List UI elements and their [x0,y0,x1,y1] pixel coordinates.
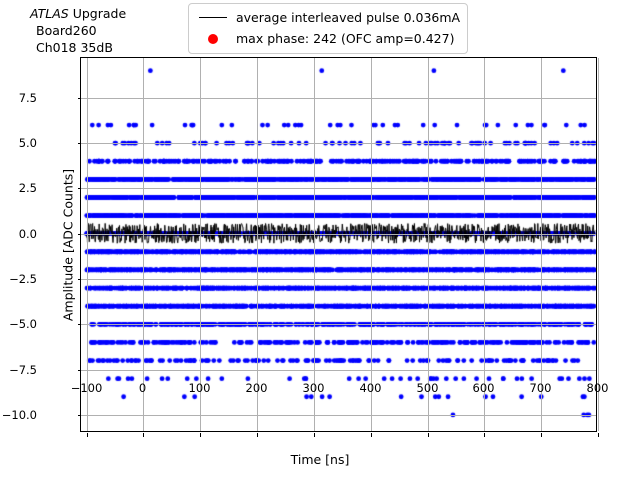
y-axis-tick-label: −7.5 [9,363,37,377]
legend-entry-max-phase: max phase: 242 (OFC amp=0.427) [196,28,460,49]
x-axis-tick-label: 200 [246,381,268,395]
y-axis-tick-label: 7.5 [19,91,37,105]
annotation-line-2: Board260 [30,22,126,39]
gridline-horizontal [81,98,596,99]
gridline-horizontal [81,188,596,189]
gridline-vertical [541,58,542,431]
x-axis-tick [428,433,429,437]
x-axis-tick [87,433,88,437]
legend-box: average interleaved pulse 0.036mA max ph… [188,3,468,54]
x-axis-tick-label: 100 [189,381,211,395]
x-axis-tick [200,433,201,437]
gridline-vertical [428,58,429,431]
gridline-vertical [143,58,144,431]
x-axis-tick-label: 400 [360,381,382,395]
x-axis-tick [484,433,485,437]
figure-canvas: Amplitude [ADC Counts] Time [ns] ATLAS U… [0,0,640,480]
y-axis-tick [78,370,82,371]
gridline-horizontal [81,370,596,371]
legend-entry-average-pulse: average interleaved pulse 0.036mA [196,7,460,28]
gridline-horizontal [81,279,596,280]
x-axis-tick [314,433,315,437]
x-axis-tick-label: 800 [587,381,609,395]
legend-label-max-phase: max phase: 242 (OFC amp=0.427) [230,31,454,46]
y-axis-tick-label: 0.0 [19,227,37,241]
y-axis-tick [78,98,82,99]
plot-area [81,58,596,431]
legend-dot-key [196,34,230,44]
x-axis-title: Time [ns] [0,452,640,467]
legend-line-key [196,17,230,19]
gridline-vertical [257,58,258,431]
y-axis-tick-label: 5.0 [19,136,37,150]
upgrade-label: Upgrade [69,6,126,21]
atlas-label: ATLAS [30,6,69,21]
y-axis-tick-label: −10.0 [2,408,37,422]
annotation-block: ATLAS Upgrade Board260 Ch018 35dB [30,5,126,56]
x-axis-tick-label: 300 [303,381,325,395]
gridline-vertical [314,58,315,431]
legend-label-average-pulse: average interleaved pulse 0.036mA [230,10,460,25]
x-axis-tick-label: 600 [473,381,495,395]
gridline-vertical [87,58,88,431]
y-axis-tick [78,324,82,325]
plot-axes [80,57,597,432]
y-axis-title: Amplitude [ADC Counts] [61,168,76,320]
gridline-vertical [484,58,485,431]
x-axis-tick [541,433,542,437]
x-axis-tick-label: 500 [417,381,439,395]
scatter-plot-canvas [81,58,596,431]
y-axis-tick [78,188,82,189]
gridline-vertical [200,58,201,431]
annotation-line-3: Ch018 35dB [30,39,126,56]
gridline-vertical [598,58,599,431]
x-axis-tick-label: −100 [71,381,103,395]
x-axis-tick [257,433,258,437]
x-axis-tick-label: 0 [139,381,146,395]
annotation-line-1: ATLAS Upgrade [30,5,126,22]
y-axis-tick [78,234,82,235]
y-axis-tick-label: −2.5 [9,272,37,286]
x-axis-tick [143,433,144,437]
gridline-horizontal [81,143,596,144]
x-axis-tick-label: 700 [530,381,552,395]
gridline-horizontal [81,324,596,325]
y-axis-tick-label: −5.0 [9,317,37,331]
y-axis-tick [78,279,82,280]
x-axis-tick [371,433,372,437]
y-axis-tick [78,143,82,144]
x-axis-tick [598,433,599,437]
y-axis-tick-label: 2.5 [19,181,37,195]
y-axis-tick [78,415,82,416]
gridline-vertical [371,58,372,431]
gridline-horizontal [81,234,596,235]
gridline-horizontal [81,415,596,416]
